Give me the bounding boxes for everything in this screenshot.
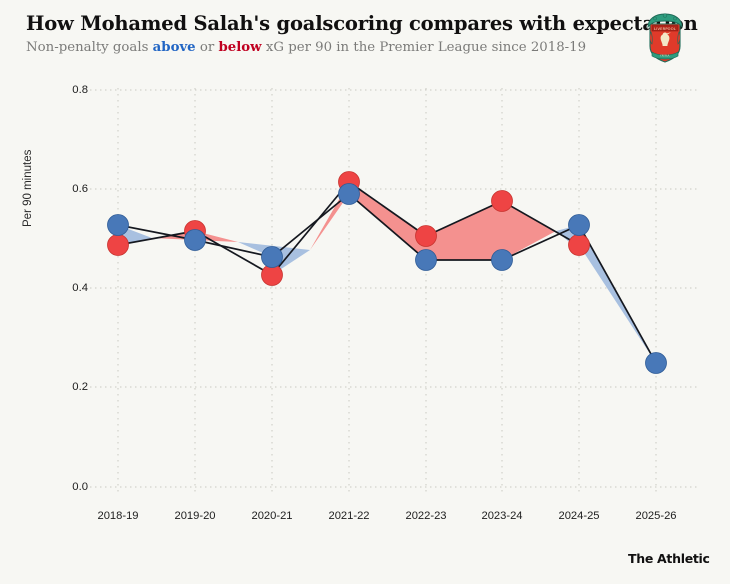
y-tick-0-2: 0.2	[52, 381, 88, 393]
x-tick-2019-20: 2019-20	[155, 510, 235, 522]
chart-container: How Mohamed Salah's goalscoring compares…	[0, 0, 730, 584]
y-axis-label: Per 90 minutes	[22, 150, 34, 227]
xg-point-2018-19	[108, 235, 129, 256]
y-tick-0-6: 0.6	[52, 183, 88, 195]
vertical-gridlines	[118, 88, 656, 495]
xg-point-2023-24	[492, 191, 513, 212]
y-tick-0-8: 0.8	[52, 84, 88, 96]
goals-point-2022-23	[416, 250, 437, 271]
the-athletic-logo: The Athletic	[628, 551, 710, 566]
x-tick-2024-25: 2024-25	[539, 510, 619, 522]
goals-point-2021-22	[339, 184, 360, 205]
y-tick-0-4: 0.4	[52, 282, 88, 294]
goals-point-2019-20	[185, 230, 206, 251]
xg-point-2022-23	[416, 226, 437, 247]
x-tick-2018-19: 2018-19	[78, 510, 158, 522]
x-tick-2021-22: 2021-22	[309, 510, 389, 522]
goals-point-2024-25	[569, 215, 590, 236]
goals-point-2025-26	[646, 353, 667, 374]
xg-point-2024-25	[569, 235, 590, 256]
goals-point-2023-24	[492, 250, 513, 271]
below-xg-fill-region	[118, 182, 556, 260]
x-tick-2020-21: 2020-21	[232, 510, 312, 522]
plot-area	[0, 0, 730, 584]
y-tick-0-0: 0.0	[52, 481, 88, 493]
goals-point-2020-21	[262, 247, 283, 268]
x-tick-2023-24: 2023-24	[462, 510, 542, 522]
goals-point-2018-19	[108, 215, 129, 236]
x-tick-2025-26: 2025-26	[616, 510, 696, 522]
x-tick-2022-23: 2022-23	[386, 510, 466, 522]
